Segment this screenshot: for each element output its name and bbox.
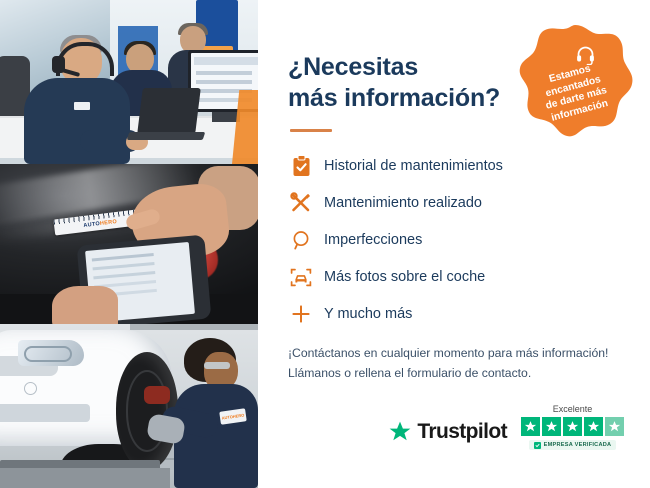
plus-icon [288,302,314,326]
verified-company-badge: EMPRESA VERIFICADA [529,440,617,450]
rating-label: Excelente [553,404,593,414]
list-item: Imperfecciones [288,228,622,252]
feature-label: Imperfecciones [324,232,422,248]
tools-cross-icon [288,191,314,215]
info-promo-card: AUTOHERO [0,0,650,488]
monitor-stand [212,112,240,122]
star-partial [605,417,624,436]
trustpilot-star-icon [388,420,412,444]
hand-tool [144,386,170,404]
contact-paragraph: ¡Contáctanos en cualquier momento para m… [288,344,622,384]
contact-paragraph-line-2: Llámanos o rellena el formulario de cont… [288,366,531,380]
feature-label: Historial de mantenimientos [324,158,503,174]
star-filled [521,417,540,436]
list-item: Y mucho más [288,302,622,326]
trustpilot-brand-name: Trustpilot [417,420,507,444]
magnifier-icon [288,228,314,252]
feature-label: Más fotos sobre el coche [324,269,485,285]
list-item: Mantenimiento realizado [288,191,622,215]
wall-rail [130,324,258,330]
safety-glasses [204,362,230,369]
star-rating [521,417,624,436]
photo-collage: AUTOHERO [0,0,258,488]
clipboard-check-icon [288,154,314,178]
trustpilot-logo[interactable]: Trustpilot [388,420,507,450]
feature-label: Mantenimiento realizado [324,195,482,211]
laptop [128,88,200,140]
trustpilot-rating: Excelente [521,404,624,450]
feature-list: Historial de mantenimientos Mantenimient… [288,154,622,326]
title-underline-rule [290,129,332,132]
call-center-agents-photo [0,0,258,164]
car-inspection-ruler-photo: AUTOHERO [0,164,258,324]
star-filled [584,417,603,436]
feature-label: Y mucho más [324,306,412,322]
page-title-line-1: ¿Necesitas [288,53,418,81]
trustpilot-widget[interactable]: Trustpilot Excelente [388,404,624,450]
verified-label: EMPRESA VERIFICADA [544,442,612,448]
ruler-brand-text: AUTOHERO [83,219,117,229]
page-title-line-2: más información? [288,84,500,112]
star-filled [563,417,582,436]
mechanic-person: AUTOHERO [164,338,258,488]
list-item: Historial de mantenimientos [288,154,622,178]
page-title: ¿Necesitas más información? [288,52,528,113]
star-filled [542,417,561,436]
info-panel: ¿Necesitas más información? Historial de… [258,0,650,488]
mechanic-wheel-inspection-photo: AUTOHERO [0,324,258,488]
car-lift-platform [0,468,170,488]
front-agent [18,38,130,156]
contact-paragraph-line-1: ¡Contáctanos en cualquier momento para m… [288,346,608,360]
check-icon [534,442,541,449]
support-badge: Estamos encantados de darte más informac… [516,22,634,140]
list-item: Más fotos sobre el coche [288,265,622,289]
car-scan-icon [288,265,314,289]
inspector-hand-2 [52,286,118,324]
